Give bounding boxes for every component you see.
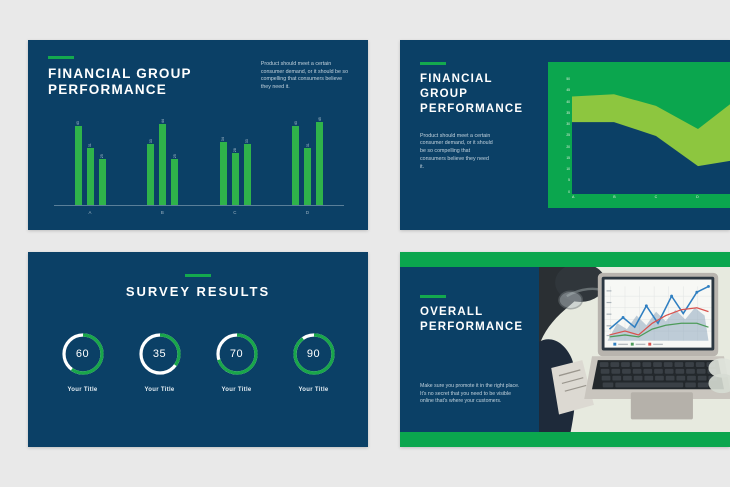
bar-category-label: D xyxy=(306,207,310,215)
title-block: FINANCIAL GROUP PERFORMANCE Product shou… xyxy=(420,62,538,171)
bar-group: 433125 xyxy=(75,113,106,205)
donut-value: 60 xyxy=(59,330,107,378)
donut-label: Your Title xyxy=(298,387,328,393)
area-x-tick-label: B xyxy=(613,195,615,199)
bar-value-label: 25 xyxy=(100,154,104,158)
bar-column: 28 xyxy=(232,113,239,205)
laptop-photo xyxy=(539,267,730,432)
accent-bar xyxy=(185,274,211,277)
bar-value-label: 43 xyxy=(294,121,298,125)
area-y-tick-label: 40 xyxy=(566,101,570,104)
bar xyxy=(159,124,166,205)
donut-label: Your Title xyxy=(67,387,97,393)
area-y-tick-label: 30 xyxy=(566,123,570,126)
slide-survey-results[interactable]: SURVEY RESULTS 60Your Title35Your Title7… xyxy=(28,252,368,447)
donut-row: 60Your Title35Your Title70Your Title90Yo… xyxy=(44,330,352,393)
page-title: FINANCIAL GROUP PERFORMANCE xyxy=(48,66,261,99)
bar xyxy=(171,159,178,205)
donut-cell[interactable]: 90Your Title xyxy=(290,330,338,393)
area-x-tick-label: D xyxy=(696,195,699,199)
bar xyxy=(316,122,323,205)
page-title: SURVEY RESULTS xyxy=(126,284,270,300)
area-chart-svg xyxy=(572,78,730,194)
area-y-tick-label: 45 xyxy=(566,89,570,92)
slide-financial-group-performance-area[interactable]: FINANCIAL GROUP PERFORMANCE Product shou… xyxy=(400,40,730,230)
donut-label: Your Title xyxy=(144,387,174,393)
bar-value-label: 33 xyxy=(245,139,249,143)
slide-header: FINANCIAL GROUP PERFORMANCE Product shou… xyxy=(48,56,350,99)
bar-value-label: 34 xyxy=(221,137,225,141)
donut-cell[interactable]: 35Your Title xyxy=(136,330,184,393)
bar-category-label: B xyxy=(161,207,164,215)
donut-value: 70 xyxy=(213,330,261,378)
bar-column: 33 xyxy=(244,113,251,205)
donut-chart: 90 xyxy=(290,330,338,378)
body-copy: Product should meet a certain consumer d… xyxy=(261,56,350,92)
bar xyxy=(244,144,251,205)
donut-cell[interactable]: 60Your Title xyxy=(59,330,107,393)
bar-value-label: 45 xyxy=(318,117,322,121)
bar-column: 25 xyxy=(171,113,178,205)
bar-x-axis: ABCD xyxy=(54,207,344,220)
bar-value-label: 33 xyxy=(149,139,153,143)
area-chart-panel: 05101520253035404550 ABCDE xyxy=(548,62,730,208)
donut-value: 90 xyxy=(290,330,338,378)
area-y-tick-label: 25 xyxy=(566,134,570,137)
slide-financial-group-performance-bars[interactable]: FINANCIAL GROUP PERFORMANCE Product shou… xyxy=(28,40,368,230)
slide-deck: FINANCIAL GROUP PERFORMANCE Product shou… xyxy=(0,0,730,487)
bar-value-label: 43 xyxy=(76,121,80,125)
bar-column: 31 xyxy=(304,113,311,205)
bar-column: 33 xyxy=(147,113,154,205)
bar-column: 45 xyxy=(316,113,323,205)
bar-value-label: 31 xyxy=(306,143,310,147)
bar-plot-area: 433125334425342833433145 xyxy=(54,113,344,206)
bar-column: 25 xyxy=(99,113,106,205)
bar xyxy=(304,148,311,205)
bar-category-label: A xyxy=(89,207,92,215)
bar-column: 43 xyxy=(75,113,82,205)
bar-column: 34 xyxy=(220,113,227,205)
bar xyxy=(220,142,227,205)
page-title: FINANCIAL GROUP PERFORMANCE xyxy=(420,72,538,117)
area-y-tick-label: 15 xyxy=(566,157,570,160)
area-y-tick-label: 0 xyxy=(568,191,570,194)
accent-bar xyxy=(48,56,74,59)
green-band-bottom xyxy=(400,432,730,447)
area-plot-area: 05101520253035404550 ABCDE xyxy=(572,78,730,194)
bar-value-label: 31 xyxy=(88,143,92,147)
area-y-tick-label: 20 xyxy=(566,146,570,149)
area-x-axis: ABCDE xyxy=(572,195,730,205)
donut-chart: 35 xyxy=(136,330,184,378)
bar-column: 31 xyxy=(87,113,94,205)
slide-overall-performance[interactable]: OVERALL PERFORMANCE Make sure you promot… xyxy=(400,252,730,447)
area-y-tick-label: 10 xyxy=(566,168,570,171)
bar-chart: 433125334425342833433145 ABCD xyxy=(54,113,344,220)
area-y-tick-label: 5 xyxy=(568,179,570,182)
area-y-tick-label: 35 xyxy=(566,112,570,115)
bar xyxy=(292,126,299,205)
green-band-top xyxy=(400,252,730,267)
accent-bar xyxy=(420,62,446,65)
body-copy: Product should meet a certain consumer d… xyxy=(420,133,494,171)
donut-value: 35 xyxy=(136,330,184,378)
bar-value-label: 25 xyxy=(173,154,177,158)
area-x-tick-label: A xyxy=(572,195,574,199)
body-copy: Make sure you promote it in the right pl… xyxy=(420,383,523,406)
bar-column: 43 xyxy=(292,113,299,205)
area-y-tick-label: 50 xyxy=(566,78,570,81)
donut-chart: 70 xyxy=(213,330,261,378)
bar-group: 342833 xyxy=(220,113,251,205)
donut-cell[interactable]: 70Your Title xyxy=(213,330,261,393)
bar-category-label: C xyxy=(233,207,237,215)
laptop-photo-illustration xyxy=(539,267,730,432)
bar-value-label: 44 xyxy=(161,119,165,123)
bar-value-label: 28 xyxy=(233,148,237,152)
title-block: OVERALL PERFORMANCE Make sure you promot… xyxy=(400,267,539,432)
area-x-tick-label: C xyxy=(655,195,658,199)
bar xyxy=(147,144,154,205)
bar xyxy=(87,148,94,205)
donut-chart: 60 xyxy=(59,330,107,378)
page-title: OVERALL PERFORMANCE xyxy=(420,305,521,335)
area-y-axis: 05101520253035404550 xyxy=(552,78,570,194)
bar xyxy=(232,153,239,205)
bar-group: 334425 xyxy=(147,113,178,205)
bar-column: 44 xyxy=(159,113,166,205)
donut-label: Your Title xyxy=(221,387,251,393)
title-block: FINANCIAL GROUP PERFORMANCE xyxy=(48,56,261,99)
bar-group: 433145 xyxy=(292,113,323,205)
accent-bar xyxy=(420,295,446,298)
bar xyxy=(75,126,82,205)
bar xyxy=(99,159,106,205)
